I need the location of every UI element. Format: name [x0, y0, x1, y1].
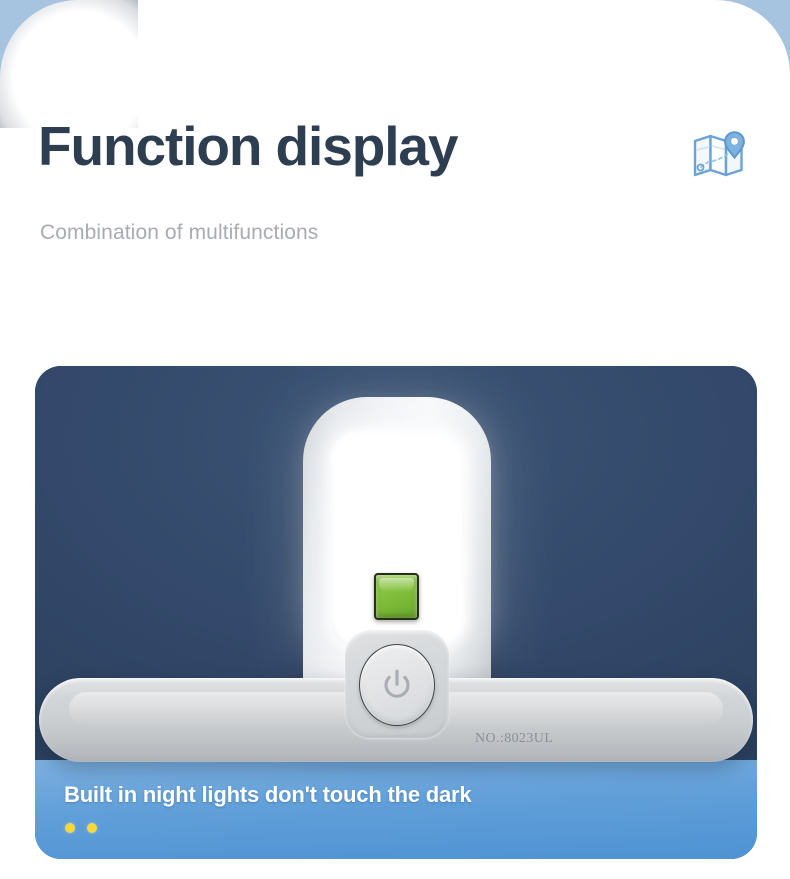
- page-card: Function display Combination of multifun…: [0, 0, 790, 879]
- page-title: Function display: [38, 118, 457, 176]
- carousel-dot[interactable]: [87, 823, 97, 833]
- page-subtitle: Combination of multifunctions: [40, 221, 318, 245]
- power-icon: [380, 668, 414, 702]
- map-pin-icon: [692, 130, 748, 182]
- product-caption: Built in night lights don't touch the da…: [64, 782, 471, 808]
- product-image-card: NO.:8023UL Built in night lights don't t…: [35, 366, 757, 859]
- model-number-label: NO.:8023UL: [475, 731, 553, 747]
- green-switch-button[interactable]: [374, 573, 419, 620]
- carousel-dot[interactable]: [65, 823, 75, 833]
- header-section: Function display Combination of multifun…: [0, 0, 790, 360]
- carousel-dots[interactable]: [65, 823, 97, 833]
- power-button[interactable]: [359, 644, 435, 726]
